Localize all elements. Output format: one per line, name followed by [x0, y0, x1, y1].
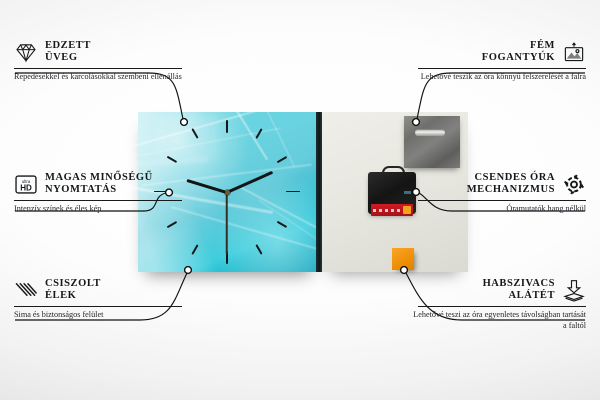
callout-subtitle: Intenzív színek és éles kép	[14, 204, 192, 214]
callout-subtitle: Lehetővé teszi az óra egyenletes távolsá…	[408, 310, 586, 330]
connector-endpoint-handles	[413, 119, 420, 126]
callout-subtitle: Sima és biztonságos felület	[14, 310, 192, 320]
ultra-hd-icon: ultra HD	[14, 173, 38, 196]
callout-header: CSISZOLT ÉLEK	[14, 278, 192, 303]
diamond-gem-icon	[14, 41, 38, 64]
callout-polished-edges: CSISZOLT ÉLEK Sima és biztonságos felüle…	[14, 278, 192, 321]
polished-edges-icon	[14, 279, 38, 302]
callout-header: ultra HD MAGAS MINŐSÉGŰ NYOMTATÁS	[14, 172, 192, 197]
callout-title: MAGAS MINŐSÉGŰ NYOMTATÁS	[45, 172, 153, 197]
callout-tempered-glass: EDZETT ÜVEG Repedésekkel és karcolásokka…	[14, 40, 192, 83]
callout-high-quality-print: ultra HD MAGAS MINŐSÉGŰ NYOMTATÁS Intenz…	[14, 172, 192, 215]
hanging-picture-icon	[562, 41, 586, 64]
callout-title: HABSZIVACS ALÁTÉT	[483, 278, 555, 303]
connector-endpoint-edge	[185, 267, 192, 274]
callout-foam-pad: HABSZIVACS ALÁTÉT Lehetővé teszi az óra …	[408, 278, 586, 331]
infographic-canvas: EDZETT ÜVEG Repedésekkel és karcolásokka…	[0, 0, 600, 400]
callout-subtitle: Repedésekkel és karcolásokkal szembeni e…	[14, 72, 192, 82]
callout-divider	[418, 68, 586, 69]
callout-header: EDZETT ÜVEG	[14, 40, 192, 65]
callout-title: CSENDES ÓRA MECHANIZMUS	[467, 172, 555, 197]
callout-header: HABSZIVACS ALÁTÉT	[408, 278, 586, 303]
callout-title: FÉM FOGANTYÚK	[482, 40, 555, 65]
callout-divider	[14, 68, 182, 69]
callout-header: CSENDES ÓRA MECHANIZMUS	[408, 172, 586, 197]
callout-divider	[418, 306, 586, 307]
connector-endpoint-glass	[181, 119, 188, 126]
callout-divider	[418, 200, 586, 201]
svg-text:HD: HD	[20, 184, 32, 193]
foam-layers-arrow-icon	[562, 279, 586, 302]
connector-endpoint-foam	[401, 267, 408, 274]
callout-divider	[14, 200, 182, 201]
callout-title: EDZETT ÜVEG	[45, 40, 91, 65]
callout-title: CSISZOLT ÉLEK	[45, 278, 101, 303]
callout-header: FÉM FOGANTYÚK	[408, 40, 586, 65]
gear-icon	[562, 173, 586, 196]
callout-subtitle: Óramutatók hang nélkül	[408, 204, 586, 214]
callout-subtitle: Lehetővé teszik az óra könnyű felszerelé…	[408, 72, 586, 82]
callout-divider	[14, 306, 182, 307]
callout-metal-handles: FÉM FOGANTYÚK Lehetővé teszik az óra kön…	[408, 40, 586, 83]
callout-silent-mechanism: CSENDES ÓRA MECHANIZMUS Óramutatók hang …	[408, 172, 586, 215]
